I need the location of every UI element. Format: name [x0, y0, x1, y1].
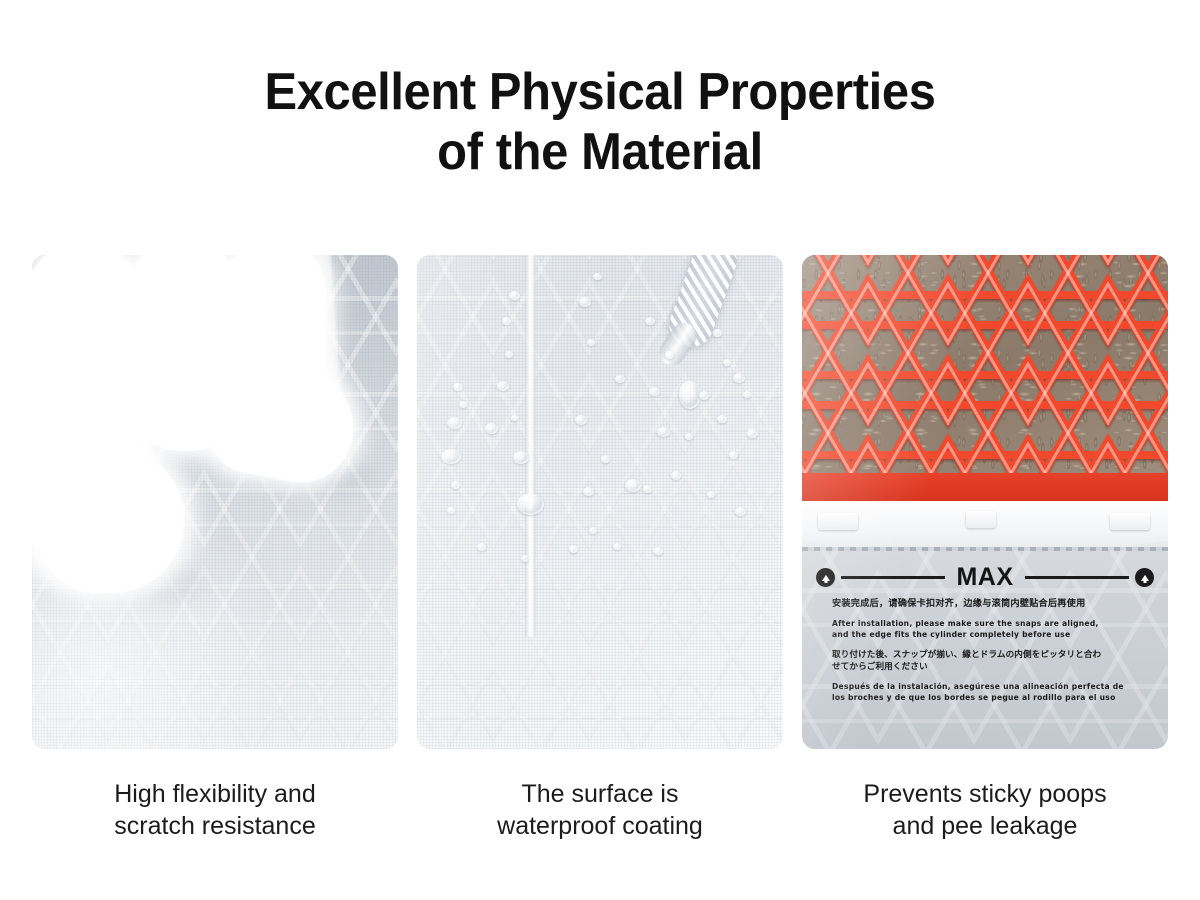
water-droplet: [653, 547, 663, 555]
water-droplet: [613, 543, 621, 550]
instruction-english: After installation, please make sure the…: [832, 619, 1144, 640]
water-droplet: [713, 329, 722, 337]
water-droplet: [511, 415, 518, 421]
caption-line: and pee leakage: [802, 810, 1168, 842]
instruction-english-line-1: After installation, please make sure the…: [832, 619, 1099, 628]
water-droplet: [593, 273, 602, 280]
water-droplet: [447, 417, 462, 429]
water-droplet: [587, 339, 595, 346]
snap-tab: [818, 513, 858, 530]
instruction-spanish-line-2: los broches y de que los bordes se pegue…: [832, 693, 1116, 702]
water-droplet: [685, 433, 693, 440]
grid-highlight: [802, 255, 1168, 491]
fabric-seam: [525, 255, 536, 637]
instruction-spanish-line-1: Después de la instalación, asegúrese una…: [832, 682, 1124, 691]
snap-tab: [1110, 513, 1150, 530]
water-droplet: [747, 429, 758, 438]
instruction-spanish: Después de la instalación, asegúrese una…: [832, 682, 1144, 703]
page-title: Excellent Physical Properties of the Mat…: [0, 62, 1200, 182]
feature-image-anti-leak: MAX 安装完成后，请确保卡扣对齐，边缘与滚筒内壁贴合后再使用 After in…: [802, 255, 1168, 749]
water-droplet: [643, 485, 652, 493]
water-droplet: [707, 491, 715, 498]
water-droplet: [733, 373, 745, 383]
water-droplet: [679, 381, 701, 409]
water-droplet: [569, 545, 578, 553]
printed-liner: MAX 安装完成后，请确保卡扣对齐，边缘与滚筒内壁贴合后再使用 After in…: [802, 547, 1168, 749]
max-rule-right: [1025, 576, 1129, 579]
water-droplet: [665, 351, 674, 359]
feature-image-waterproof: [417, 255, 783, 749]
instruction-english-line-2: and the edge fits the cylinder completel…: [832, 630, 1070, 639]
water-droplet: [451, 481, 460, 489]
title-line-2: of the Material: [36, 122, 1164, 182]
water-droplet: [459, 401, 467, 408]
water-droplet: [509, 291, 520, 300]
caption-line: scratch resistance: [32, 810, 398, 842]
water-droplet: [579, 297, 591, 307]
arrow-up-icon: [816, 568, 835, 587]
water-droplet: [441, 449, 461, 464]
water-droplet: [625, 479, 641, 492]
caption-line: The surface is: [417, 778, 783, 810]
feature-image-flexibility: [32, 255, 398, 749]
water-droplet: [502, 317, 511, 325]
water-droplet: [583, 487, 594, 496]
water-droplet: [671, 471, 681, 480]
infographic-page: Excellent Physical Properties of the Mat…: [0, 0, 1200, 900]
instruction-japanese-line-1: 取り付けた後、スナップが揃い、縁とドラムの内側をピッタリと合わ: [832, 650, 1101, 660]
title-line-1: Excellent Physical Properties: [36, 62, 1164, 122]
instruction-japanese-line-2: せてからご利用ください: [832, 662, 928, 672]
snap-tab: [966, 511, 996, 528]
water-droplet: [649, 387, 660, 396]
water-droplet: [447, 507, 455, 514]
caption-flexibility: High flexibility and scratch resistance: [32, 778, 398, 868]
water-droplet: [513, 451, 529, 464]
water-droplet: [735, 507, 746, 516]
mat-weave-texture: [417, 255, 783, 749]
water-droplet: [517, 493, 544, 515]
instruction-japanese: 取り付けた後、スナップが揃い、縁とドラムの内側をピッタリと合わ せてからご利用く…: [832, 649, 1144, 673]
max-label: MAX: [951, 565, 1018, 590]
water-droplet: [505, 351, 513, 358]
water-droplet: [485, 423, 498, 434]
water-droplet: [453, 383, 463, 391]
water-droplet: [699, 391, 709, 400]
water-droplet: [615, 375, 625, 383]
caption-anti-leak: Prevents sticky poops and pee leakage: [802, 778, 1168, 868]
water-droplet: [575, 415, 587, 425]
caption-waterproof: The surface is waterproof coating: [417, 778, 783, 868]
max-rule-left: [841, 576, 945, 579]
max-fill-line: MAX: [816, 565, 1154, 590]
liner-top-edge: [802, 547, 1168, 551]
liner-instructions: 安装完成后，请确保卡扣对齐，边缘与滚筒内壁贴合后再使用 After instal…: [832, 597, 1144, 712]
caption-line: High flexibility and: [32, 778, 398, 810]
caption-line: waterproof coating: [417, 810, 783, 842]
instruction-chinese: 安装完成后，请确保卡扣对齐，边缘与滚筒内壁贴合后再使用: [832, 597, 1144, 610]
water-droplet: [645, 317, 655, 325]
water-droplet: [589, 527, 597, 534]
water-droplet: [601, 455, 610, 463]
arrow-up-icon: [1135, 568, 1154, 587]
feature-captions: High flexibility and scratch resistance …: [32, 778, 1168, 868]
water-droplet: [743, 391, 751, 398]
panel-glow: [32, 255, 398, 749]
caption-line: Prevents sticky poops: [802, 778, 1168, 810]
water-droplet: [657, 427, 670, 437]
water-droplet: [497, 381, 509, 391]
water-droplet: [717, 415, 727, 423]
water-droplet: [723, 359, 731, 366]
water-droplet: [729, 451, 738, 459]
water-droplet: [477, 543, 486, 551]
water-droplet: [521, 555, 529, 562]
litter-grid-area: [802, 255, 1168, 491]
feature-panels: MAX 安装完成后，请确保卡扣对齐，边缘与滚筒内壁贴合后再使用 After in…: [32, 255, 1168, 749]
